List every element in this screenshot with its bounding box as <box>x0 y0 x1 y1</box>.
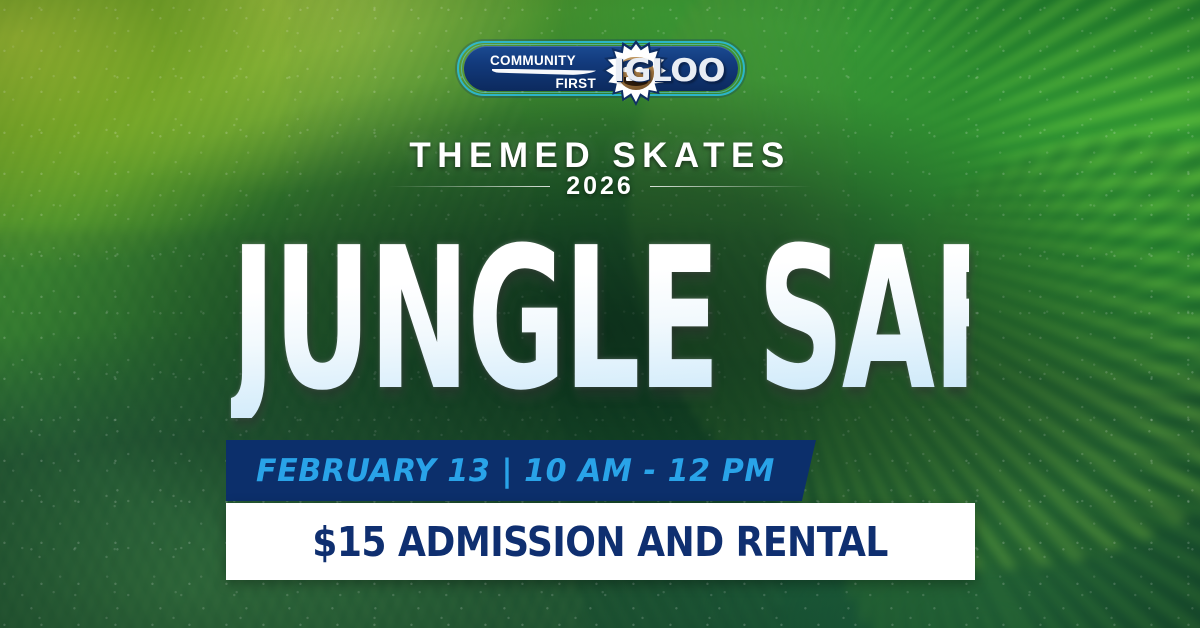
year-label: 2026 <box>566 172 634 201</box>
community-first-wordmark: COMMUNITY FIRST <box>490 54 600 90</box>
logo-pill-background: COMMUNITY FIRST IGLOO <box>464 46 738 91</box>
year-rule-right <box>650 186 812 187</box>
admission-price-bar: $15 ADMISSION AND RENTAL <box>226 503 975 580</box>
themed-skates-title: THEMED SKATES <box>0 136 1200 176</box>
year-rule-left <box>388 186 550 187</box>
logo-line-first: FIRST <box>490 77 596 91</box>
date-time-text: FEBRUARY 13 | 10 AM - 12 PM <box>256 453 775 489</box>
jungle-safari-skate-promo-graphic: COMMUNITY FIRST IGLOO THEMED SKATES 2026 <box>0 0 1200 628</box>
logo-line-community: COMMUNITY <box>490 54 600 68</box>
logo-swoosh-icon <box>492 69 596 76</box>
igloo-brand-wordmark: IGLOO <box>613 53 725 89</box>
date-time-banner: FEBRUARY 13 | 10 AM - 12 PM <box>226 440 816 501</box>
community-first-igloo-logo: COMMUNITY FIRST IGLOO <box>457 41 745 96</box>
year-row: 2026 <box>0 172 1200 201</box>
admission-price-text: $15 ADMISSION AND RENTAL <box>313 518 889 566</box>
main-headline: JUNGLE SAFARI SKATE! <box>231 222 969 418</box>
